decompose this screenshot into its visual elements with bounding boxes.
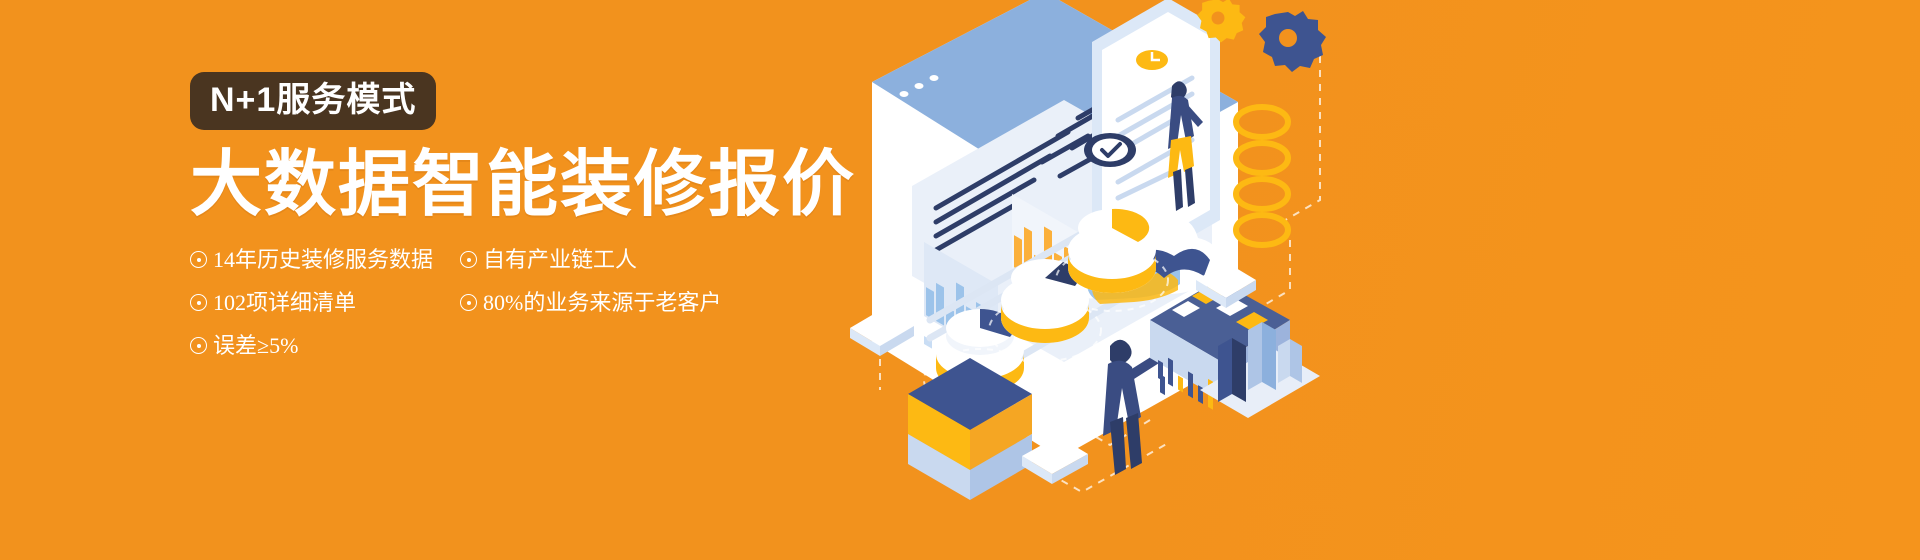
feature-label: 80%的业务来源于老客户: [483, 292, 721, 314]
circled-dot-icon: [190, 337, 207, 354]
banner-headline: 大数据智能装修报价: [190, 148, 830, 223]
feature-label: 误差≥5%: [213, 335, 298, 357]
ring-stack: [1236, 107, 1288, 245]
feature-column-left: 14年历史装修服务数据 102项详细清单 误差≥5%: [190, 249, 440, 378]
banner-text-block: N+1服务模式 大数据智能装修报价 14年历史装修服务数据 102项详细清单 误…: [190, 72, 830, 378]
feature-item: 80%的业务来源于老客户: [460, 292, 760, 314]
feature-item: 误差≥5%: [190, 335, 440, 357]
feature-label: 自有产业链工人: [483, 249, 637, 271]
feature-item: 102项详细清单: [190, 292, 440, 314]
gear-large: [1259, 11, 1326, 72]
feature-item: 自有产业链工人: [460, 249, 760, 271]
isometric-big-data-illustration: [820, 0, 1400, 560]
circled-dot-icon: [460, 294, 477, 311]
circled-dot-icon: [460, 251, 477, 268]
circled-dot-icon: [190, 251, 207, 268]
feature-label: 102项详细清单: [213, 292, 356, 314]
feature-label: 14年历史装修服务数据: [213, 249, 433, 271]
check-badge: [1084, 133, 1136, 167]
circled-dot-icon: [190, 294, 207, 311]
clock-icon: [1136, 50, 1168, 70]
feature-item: 14年历史装修服务数据: [190, 249, 440, 271]
feature-column-right: 自有产业链工人 80%的业务来源于老客户: [460, 249, 760, 378]
pie-cylinder-3: [1068, 209, 1156, 293]
feature-list: 14年历史装修服务数据 102项详细清单 误差≥5% 自有产业链工人: [190, 249, 830, 378]
service-mode-badge: N+1服务模式: [190, 72, 436, 130]
promo-banner: N+1服务模式 大数据智能装修报价 14年历史装修服务数据 102项详细清单 误…: [0, 0, 1920, 560]
